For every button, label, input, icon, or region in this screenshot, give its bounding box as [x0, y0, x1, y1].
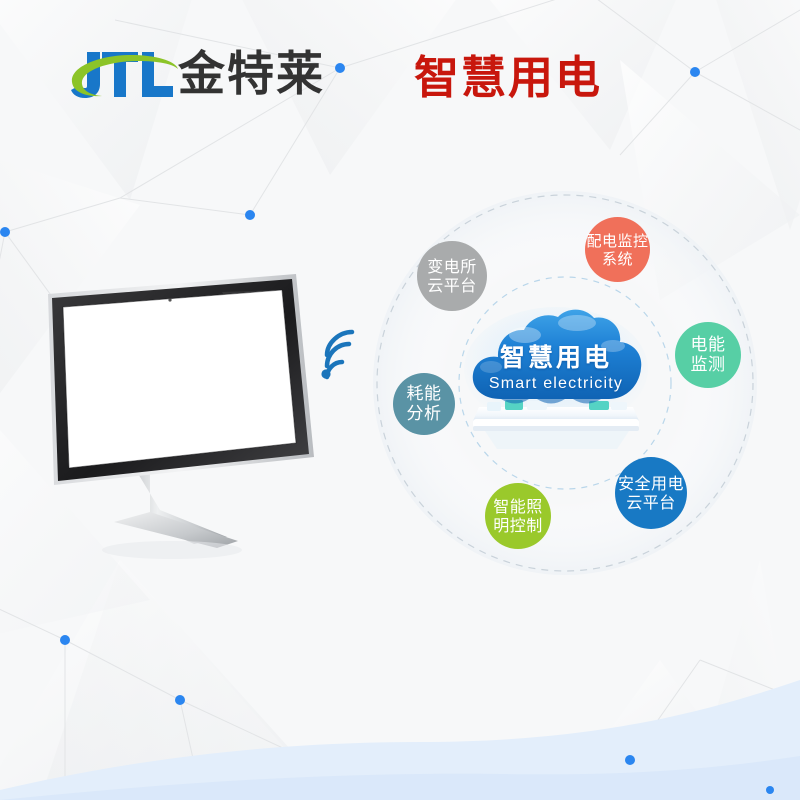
poster-header: 金特莱 智慧用电	[0, 0, 800, 140]
poster-slogan: 智慧用电	[414, 50, 602, 106]
bubble-electric-energy-monitoring[interactable]: 电能 监测	[675, 322, 741, 388]
webcam-dot	[168, 298, 171, 301]
bubble-safe-electricity-cloud-platform[interactable]: 安全用电 云平台	[615, 457, 687, 529]
bubble-line-1: 安全用电	[618, 474, 684, 493]
bubble-substation-cloud-platform[interactable]: 变电所 云平台	[417, 241, 487, 311]
bubble-line-1: 配电监控	[586, 232, 648, 250]
smart-electricity-diagram: 智慧用电 Smart electricity 变电所 云平台 配电监控 系统 电…	[365, 185, 795, 595]
tablet-device	[473, 400, 639, 449]
poster-canvas: 金特莱 智慧用电	[0, 0, 800, 800]
wifi-signal-icon	[316, 326, 372, 384]
bubble-power-distribution-monitoring-system[interactable]: 配电监控 系统	[585, 217, 650, 282]
desktop-monitor	[42, 272, 332, 562]
bubble-line-2: 明控制	[493, 516, 543, 535]
bubble-line-2: 监测	[691, 355, 726, 375]
bubble-line-2: 系统	[602, 250, 633, 268]
central-cloud-node	[461, 303, 651, 453]
bubble-line-2: 云平台	[626, 493, 676, 512]
wifi-icon-svg	[316, 326, 372, 384]
bubble-line-1: 变电所	[427, 257, 477, 276]
monitor-illustration-svg	[42, 272, 332, 562]
cloud-shape-icon	[461, 303, 651, 453]
brand-logo: 金特莱	[58, 44, 358, 110]
bubble-line-2: 分析	[407, 404, 442, 424]
company-name-cn: 金特莱	[178, 50, 325, 100]
bubble-line-2: 云平台	[427, 276, 477, 295]
jtl-swoosh-logo-icon	[58, 44, 186, 106]
bubble-intelligent-lighting-control[interactable]: 智能照 明控制	[485, 483, 551, 549]
bubble-line-1: 电能	[691, 335, 726, 355]
bubble-line-1: 耗能	[407, 384, 442, 404]
bubble-line-1: 智能照	[493, 497, 543, 516]
bubble-energy-consumption-analysis[interactable]: 耗能 分析	[393, 373, 455, 435]
